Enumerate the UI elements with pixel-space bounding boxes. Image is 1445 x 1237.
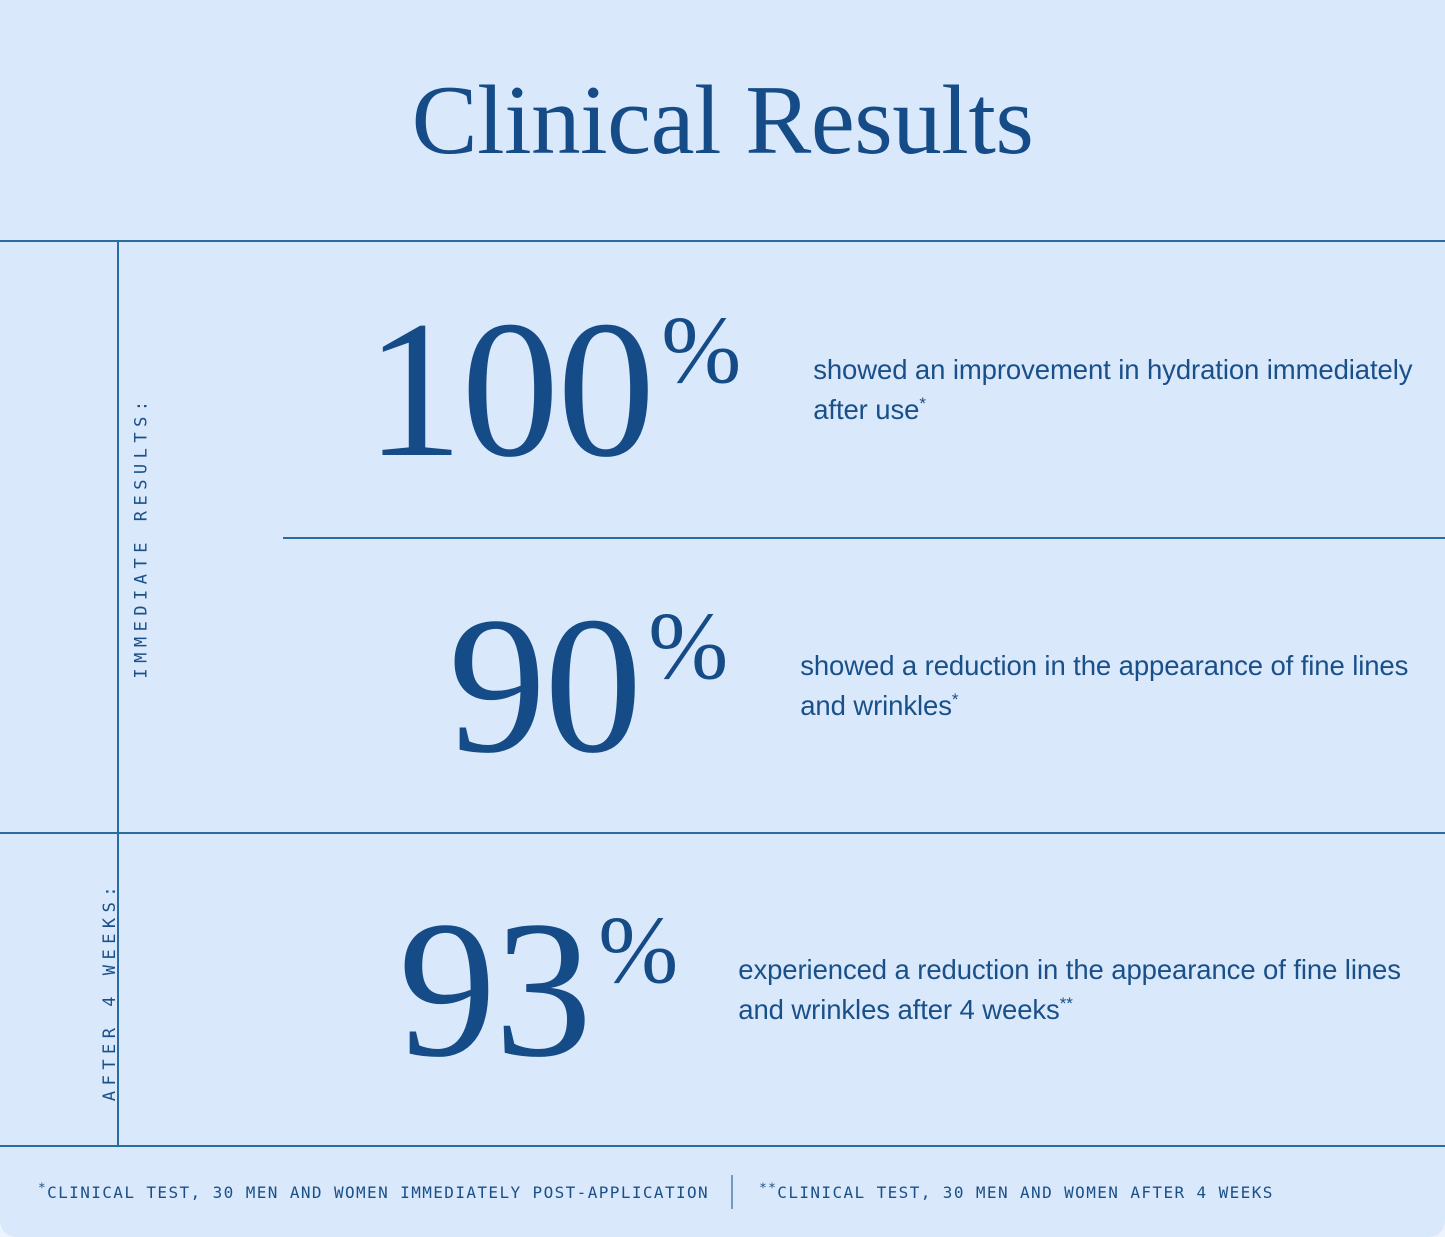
footnote-divider <box>731 1175 733 1209</box>
section-immediate-results: IMMEDIATE RESULTS: 100 % showed an impro… <box>0 242 1445 832</box>
section-rows-weeks: 93 % experienced a reduction in the appe… <box>220 834 1445 1147</box>
stat-description-text: showed an improvement in hydration immed… <box>813 354 1412 425</box>
stat-unit: % <box>598 902 678 998</box>
stat-footnote-marker: * <box>952 689 959 708</box>
footnotes-bar: *CLINICAL TEST, 30 MEN AND WOMEN IMMEDIA… <box>0 1145 1445 1237</box>
stat-description-text: experienced a reduction in the appearanc… <box>738 954 1401 1025</box>
stat-figure: 100 % <box>365 292 741 488</box>
stat-footnote-marker: * <box>919 393 926 412</box>
section-rows-immediate: 100 % showed an improvement in hydration… <box>283 242 1445 832</box>
stat-unit: % <box>648 598 728 694</box>
title-block: Clinical Results <box>0 0 1445 240</box>
stat-unit: % <box>661 302 741 398</box>
section-label-after-4-weeks: AFTER 4 WEEKS: <box>0 834 220 1147</box>
stat-value: 93 <box>398 892 590 1088</box>
stat-row: 90 % showed a reduction in the appearanc… <box>283 537 1445 832</box>
stat-value: 90 <box>448 588 640 784</box>
section-label-immediate-results: IMMEDIATE RESULTS: <box>0 242 283 832</box>
section-after-4-weeks: AFTER 4 WEEKS: 93 % experienced a reduct… <box>0 832 1445 1147</box>
section-label-text: AFTER 4 WEEKS: <box>100 880 120 1100</box>
section-label-text: IMMEDIATE RESULTS: <box>132 395 152 678</box>
footnote-marker: * <box>38 1180 47 1195</box>
stat-row: 100 % showed an improvement in hydration… <box>283 242 1445 537</box>
stat-value: 100 <box>365 292 653 488</box>
footnote-text: CLINICAL TEST, 30 MEN AND WOMEN AFTER 4 … <box>777 1183 1273 1202</box>
footnote-text: CLINICAL TEST, 30 MEN AND WOMEN IMMEDIAT… <box>47 1183 709 1202</box>
stat-description-text: showed a reduction in the appearance of … <box>800 650 1408 721</box>
page-title: Clinical Results <box>412 71 1034 170</box>
stat-description: experienced a reduction in the appearanc… <box>738 950 1445 1030</box>
stat-figure: 90 % <box>448 588 728 784</box>
stat-row: 93 % experienced a reduction in the appe… <box>220 834 1445 1145</box>
footnote-4-weeks: **CLINICAL TEST, 30 MEN AND WOMEN AFTER … <box>759 1183 1274 1202</box>
results-grid: IMMEDIATE RESULTS: 100 % showed an impro… <box>0 240 1445 1145</box>
stat-description: showed a reduction in the appearance of … <box>800 646 1445 726</box>
footnote-marker: ** <box>759 1180 777 1195</box>
stat-footnote-marker: ** <box>1060 993 1073 1012</box>
clinical-results-card: Clinical Results IMMEDIATE RESULTS: 100 … <box>0 0 1445 1237</box>
stat-description: showed an improvement in hydration immed… <box>813 350 1445 430</box>
footnote-immediate: *CLINICAL TEST, 30 MEN AND WOMEN IMMEDIA… <box>38 1183 709 1202</box>
stat-figure: 93 % <box>398 892 678 1088</box>
